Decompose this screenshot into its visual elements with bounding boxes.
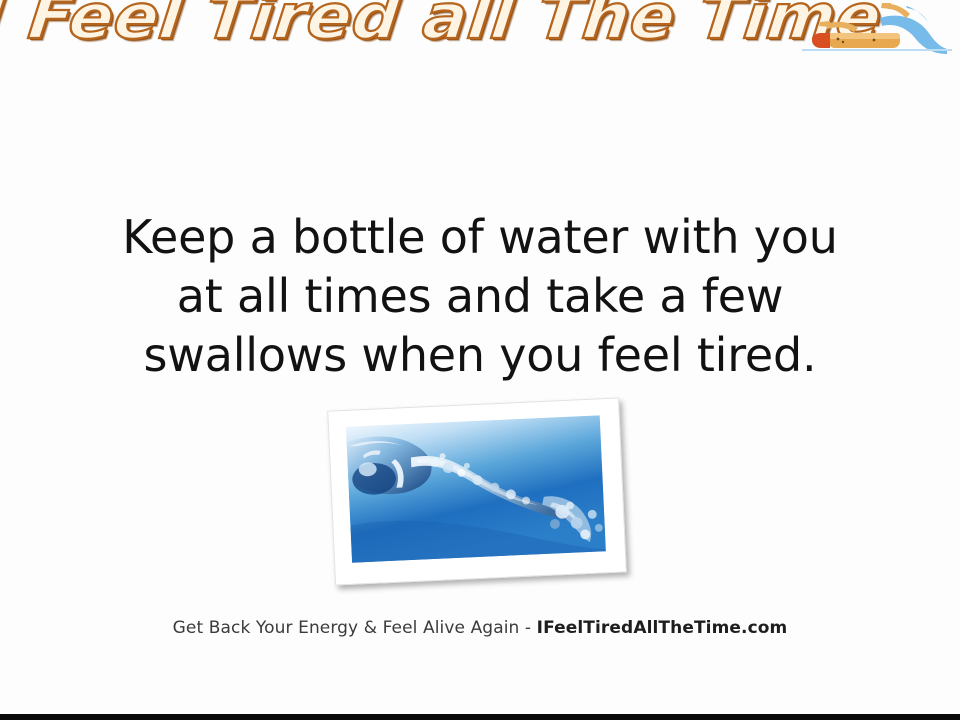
headline-line-1: Keep a bottle of water with you xyxy=(0,208,960,267)
footer-tagline-text: Get Back Your Energy & Feel Alive Again … xyxy=(173,618,532,638)
footer-tagline: Get Back Your Energy & Feel Alive Again … xyxy=(0,618,960,638)
headline-line-3: swallows when you feel tired. xyxy=(0,326,960,385)
water-photo xyxy=(327,397,627,585)
water-splash-graphic xyxy=(346,415,606,562)
photo-image xyxy=(346,415,606,562)
video-slide: I Feel Tired all The Time Keep a bo xyxy=(0,0,960,720)
site-logo-wordmark: I Feel Tired all The Time xyxy=(0,0,885,48)
swimmer-figure-icon xyxy=(802,2,952,60)
headline-line-2: at all times and take a few xyxy=(0,267,960,326)
header-banner: I Feel Tired all The Time xyxy=(0,0,960,62)
bottom-letterbox-bar xyxy=(0,714,960,720)
headline-text: Keep a bottle of water with you at all t… xyxy=(0,208,960,385)
footer-domain: IFeelTiredAllTheTime.com xyxy=(537,618,788,638)
photo-frame xyxy=(327,397,627,585)
